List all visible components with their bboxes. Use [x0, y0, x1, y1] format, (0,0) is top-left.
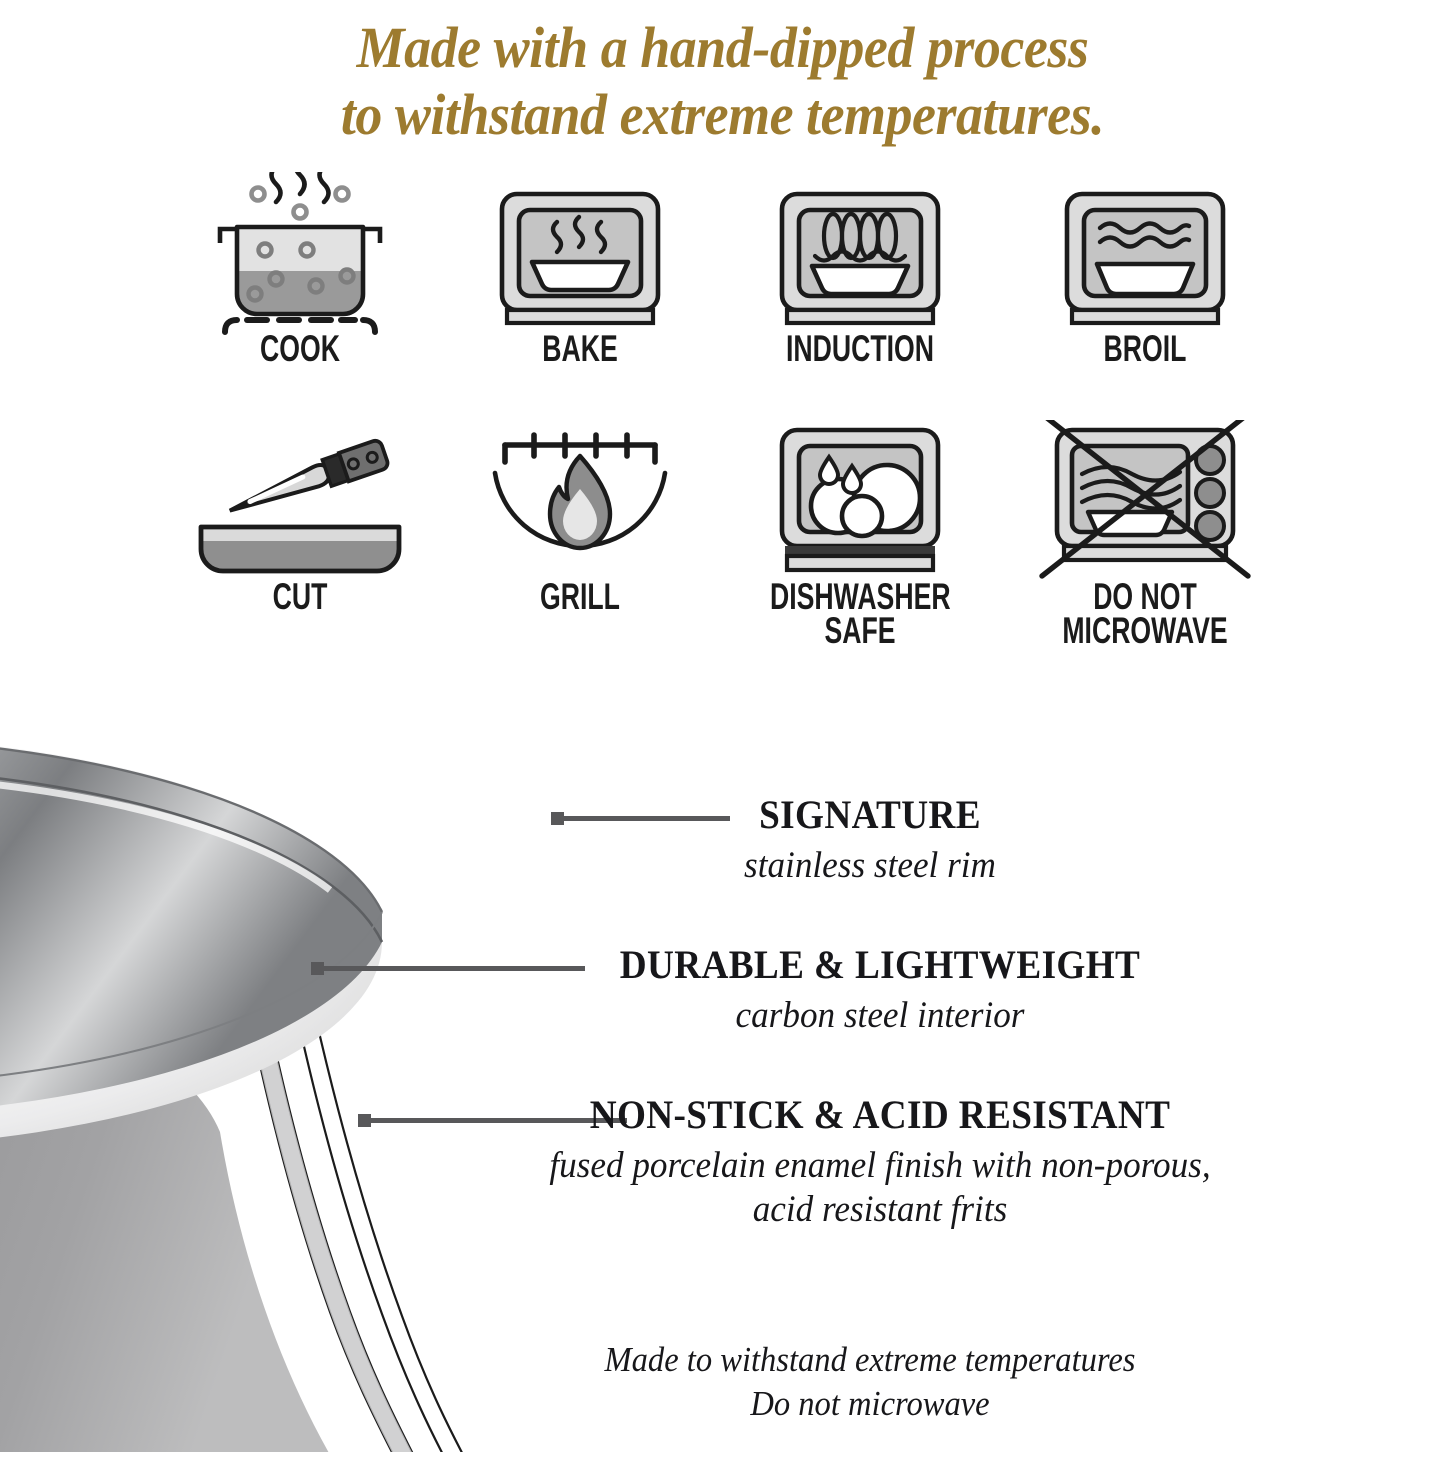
- feature-do-not-microwave-label: DO NOT MICROWAVE: [1055, 580, 1235, 648]
- callout-durable: DURABLE & LIGHTWEIGHT carbon steel inter…: [520, 943, 1240, 1038]
- headline-line-2: to withstand extreme temperatures.: [51, 81, 1395, 148]
- feature-bake: BAKE: [455, 172, 705, 366]
- headline-line-1: Made with a hand-dipped process: [357, 15, 1089, 80]
- feature-cut: CUT: [175, 420, 425, 614]
- knife-over-dish-icon: [175, 420, 425, 580]
- feature-dishwasher-safe: DISHWASHER SAFE: [735, 420, 985, 648]
- dishwasher-icon: [735, 420, 985, 580]
- feature-dishwasher-safe-label: DISHWASHER SAFE: [770, 580, 950, 648]
- page-headline: Made with a hand-dipped process to withs…: [51, 14, 1395, 149]
- callout-signature-heading: SIGNATURE: [619, 793, 1121, 838]
- oven-induction-coil-icon: [735, 172, 985, 332]
- callout-durable-heading: DURABLE & LIGHTWEIGHT: [545, 943, 1215, 988]
- feature-cut-label: CUT: [210, 580, 390, 614]
- feature-grill-label: GRILL: [490, 580, 670, 614]
- cooking-pot-icon: [175, 172, 425, 332]
- feature-do-not-microwave: DO NOT MICROWAVE: [1020, 420, 1270, 648]
- footnote: Made to withstand extreme temperatures D…: [526, 1338, 1214, 1426]
- feature-grill: GRILL: [455, 420, 705, 614]
- callout-nonstick-heading: NON-STICK & ACID RESISTANT: [545, 1093, 1215, 1138]
- callout-signature: SIGNATURE stainless steel rim: [600, 793, 1140, 888]
- feature-broil-label: BROIL: [1055, 332, 1235, 366]
- feature-bake-label: BAKE: [490, 332, 670, 366]
- oven-broil-icon: [1020, 172, 1270, 332]
- feature-broil: BROIL: [1020, 172, 1270, 366]
- callout-nonstick-sub: fused porcelain enamel finish with non-p…: [538, 1144, 1222, 1233]
- feature-cook: COOK: [175, 172, 425, 366]
- microwave-crossed-out-icon: [1020, 420, 1270, 580]
- feature-induction: INDUCTION: [735, 172, 985, 366]
- grill-flame-icon: [455, 420, 705, 580]
- callout-nonstick: NON-STICK & ACID RESISTANT fused porcela…: [520, 1093, 1240, 1233]
- callout-signature-sub: stainless steel rim: [614, 844, 1127, 888]
- oven-bake-icon: [455, 172, 705, 332]
- feature-cook-label: COOK: [210, 332, 390, 366]
- feature-induction-label: INDUCTION: [770, 332, 950, 366]
- callout-durable-sub: carbon steel interior: [538, 994, 1222, 1038]
